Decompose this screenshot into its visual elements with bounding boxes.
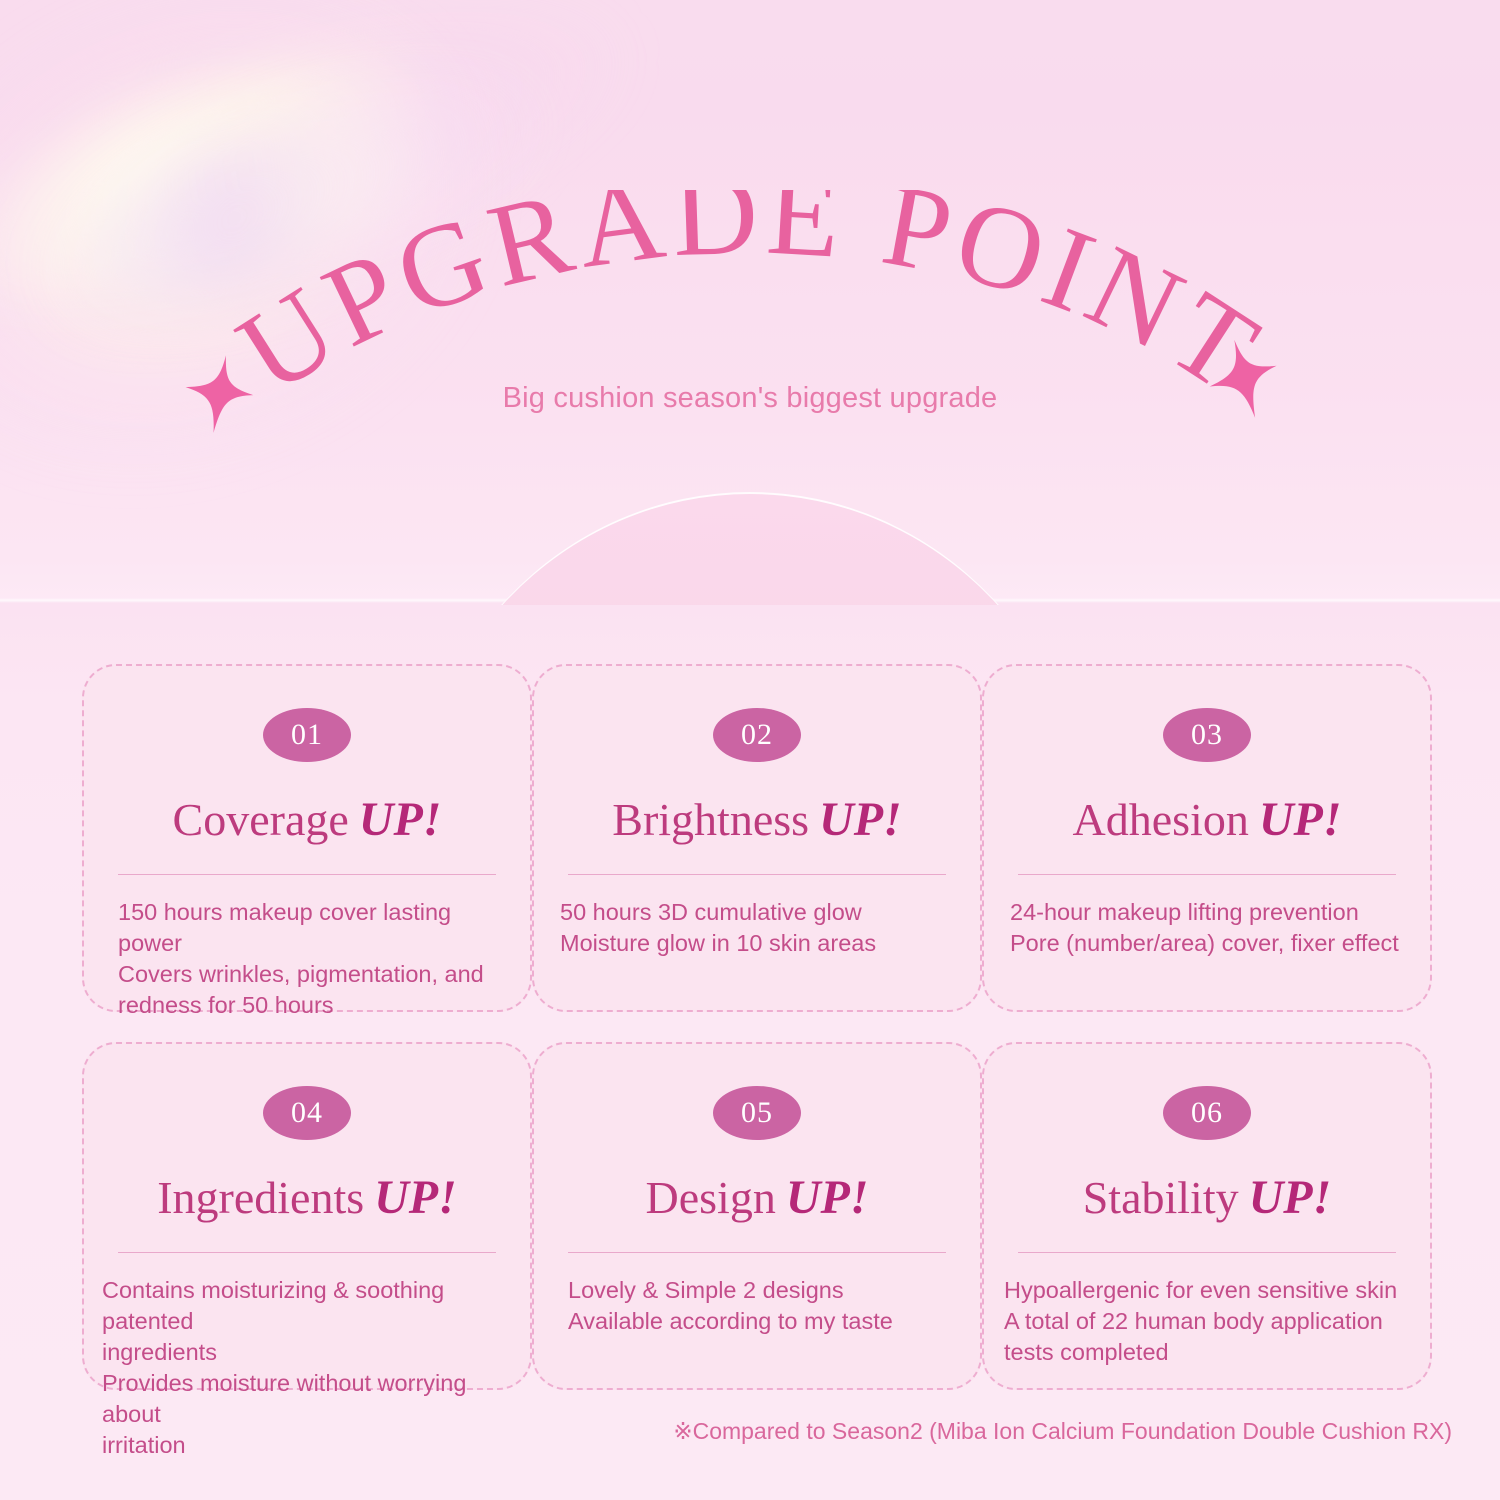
card-body-text: 150 hours makeup cover lasting power Cov… xyxy=(118,897,504,1021)
card-heading: AdhesionUP! xyxy=(1010,796,1404,844)
card-heading-word: Ingredients xyxy=(157,1172,364,1223)
sparkle-star-icon xyxy=(1206,336,1282,422)
card-number-badge: 02 xyxy=(713,708,801,762)
card-heading-word: Design xyxy=(646,1172,776,1223)
card-heading-word: Adhesion xyxy=(1073,794,1249,845)
card-heading-up: UP! xyxy=(1249,1171,1332,1224)
card-heading-up: UP! xyxy=(786,1171,869,1224)
dome-shape xyxy=(408,492,1092,605)
card-heading-up: UP! xyxy=(1259,793,1342,846)
card-heading-word: Brightness xyxy=(612,794,809,845)
card-body-text: Hypoallergenic for even sensitive skin A… xyxy=(1004,1275,1404,1368)
card-number-badge: 03 xyxy=(1163,708,1251,762)
card-heading: IngredientsUP! xyxy=(110,1174,504,1222)
card-divider xyxy=(118,874,496,875)
card-body-text: 24-hour makeup lifting prevention Pore (… xyxy=(1010,897,1404,959)
upgrade-card-05[interactable]: 05 DesignUP! Lovely & Simple 2 designs A… xyxy=(532,1042,982,1390)
card-heading: CoverageUP! xyxy=(110,796,504,844)
card-heading-up: UP! xyxy=(374,1171,457,1224)
card-divider xyxy=(568,1252,946,1253)
card-divider xyxy=(118,1252,496,1253)
card-number-badge: 04 xyxy=(263,1086,351,1140)
dome-body xyxy=(408,492,1092,605)
upgrade-card-03[interactable]: 03 AdhesionUP! 24-hour makeup lifting pr… xyxy=(982,664,1432,1012)
upgrade-card-06[interactable]: 06 StabilityUP! Hypoallergenic for even … xyxy=(982,1042,1432,1390)
card-heading-up: UP! xyxy=(359,793,442,846)
sparkle-star-icon-right xyxy=(1206,336,1282,427)
upgrade-card-04[interactable]: 04 IngredientsUP! Contains moisturizing … xyxy=(82,1042,532,1390)
card-divider xyxy=(1018,1252,1396,1253)
sparkle-star-icon-left xyxy=(182,352,256,441)
card-heading-word: Coverage xyxy=(173,794,349,845)
card-heading: DesignUP! xyxy=(560,1174,954,1222)
sparkle-star-icon xyxy=(182,352,256,436)
card-body-text: 50 hours 3D cumulative glow Moisture glo… xyxy=(560,897,954,959)
card-number-badge: 05 xyxy=(713,1086,801,1140)
card-heading-up: UP! xyxy=(819,793,902,846)
card-number-badge: 01 xyxy=(263,708,351,762)
card-body-text: Lovely & Simple 2 designs Available acco… xyxy=(568,1275,954,1337)
upgrade-card-01[interactable]: 01 CoverageUP! 150 hours makeup cover la… xyxy=(82,664,532,1012)
upgrade-points-grid: 01 CoverageUP! 150 hours makeup cover la… xyxy=(82,664,1422,1390)
card-divider xyxy=(1018,874,1396,875)
card-heading: BrightnessUP! xyxy=(560,796,954,844)
infographic-root: UPGRADE POINT Big cushion season's bigge… xyxy=(0,0,1500,1500)
card-divider xyxy=(568,874,946,875)
card-heading: StabilityUP! xyxy=(1010,1174,1404,1222)
footnote: ※Compared to Season2 (Miba Ion Calcium F… xyxy=(0,1418,1452,1445)
card-number-badge: 06 xyxy=(1163,1086,1251,1140)
card-heading-word: Stability xyxy=(1083,1172,1239,1223)
upgrade-card-02[interactable]: 02 BrightnessUP! 50 hours 3D cumulative … xyxy=(532,664,982,1012)
